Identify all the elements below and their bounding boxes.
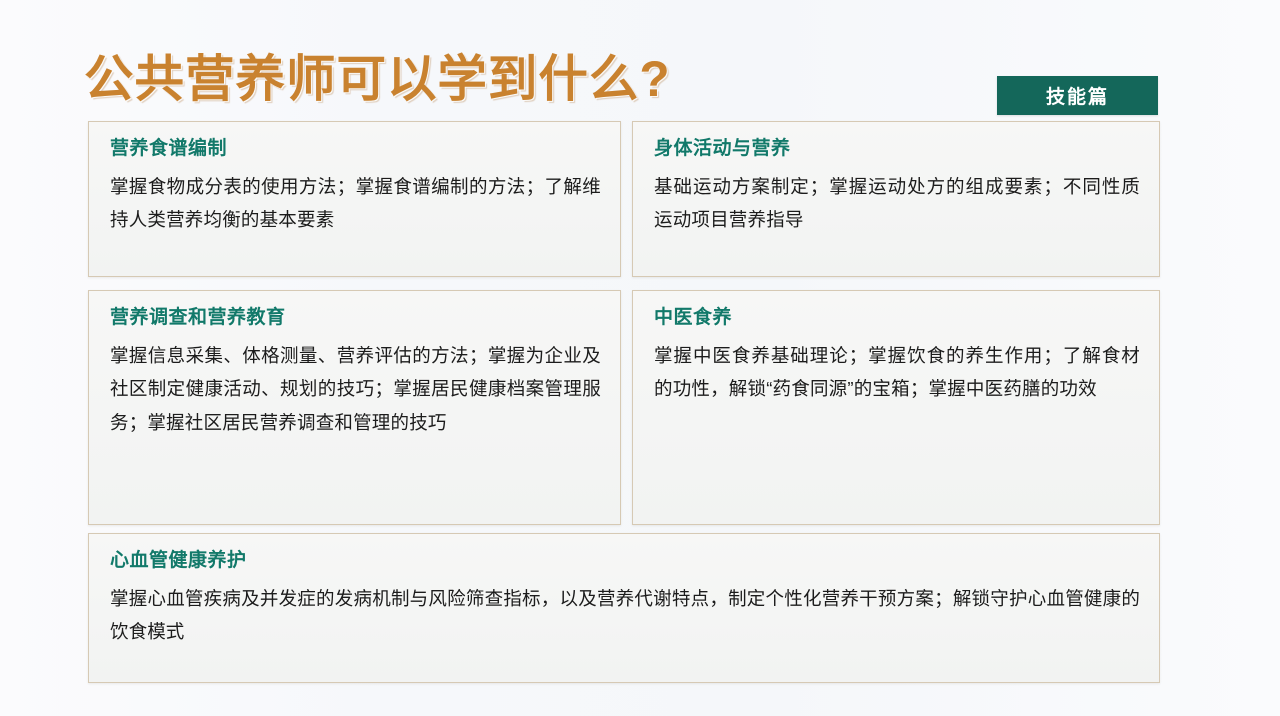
card-body: 基础运动方案制定；掌握运动处方的组成要素；不同性质运动项目营养指导 [654, 170, 1140, 237]
card-title: 心血管健康养护 [110, 550, 1140, 573]
card-physical-activity-nutrition: 身体活动与营养 基础运动方案制定；掌握运动处方的组成要素；不同性质运动项目营养指… [632, 121, 1160, 277]
card-title: 中医食养 [654, 307, 1140, 330]
card-title: 营养调查和营养教育 [110, 307, 601, 330]
card-nutrition-survey-education: 营养调查和营养教育 掌握信息采集、体格测量、营养评估的方法；掌握为企业及社区制定… [88, 290, 621, 525]
card-body: 掌握信息采集、体格测量、营养评估的方法；掌握为企业及社区制定健康活动、规划的技巧… [110, 339, 601, 440]
card-tcm-dietary-therapy: 中医食养 掌握中医食养基础理论；掌握饮食的养生作用；了解食材的功性，解锁“药食同… [632, 290, 1160, 525]
card-body: 掌握心血管疾病及并发症的发病机制与风险筛查指标，以及营养代谢特点，制定个性化营养… [110, 582, 1140, 649]
card-nutrition-recipe: 营养食谱编制 掌握食物成分表的使用方法；掌握食谱编制的方法；了解维持人类营养均衡… [88, 121, 621, 277]
status-badge: 技能篇 [997, 76, 1158, 115]
card-body: 掌握食物成分表的使用方法；掌握食谱编制的方法；了解维持人类营养均衡的基本要素 [110, 170, 601, 237]
card-grid: 营养食谱编制 掌握食物成分表的使用方法；掌握食谱编制的方法；了解维持人类营养均衡… [88, 121, 1160, 683]
card-title: 身体活动与营养 [654, 138, 1140, 161]
card-title: 营养食谱编制 [110, 138, 601, 161]
slide-header: 公共营养师可以学到什么? 技能篇 [0, 26, 1280, 106]
card-body: 掌握中医食养基础理论；掌握饮食的养生作用；了解食材的功性，解锁“药食同源”的宝箱… [654, 339, 1140, 406]
page-title: 公共营养师可以学到什么? [84, 54, 671, 104]
card-cardiovascular-health: 心血管健康养护 掌握心血管疾病及并发症的发病机制与风险筛查指标，以及营养代谢特点… [88, 533, 1160, 683]
slide-canvas: 公共营养师可以学到什么? 技能篇 营养食谱编制 掌握食物成分表的使用方法；掌握食… [0, 0, 1280, 716]
